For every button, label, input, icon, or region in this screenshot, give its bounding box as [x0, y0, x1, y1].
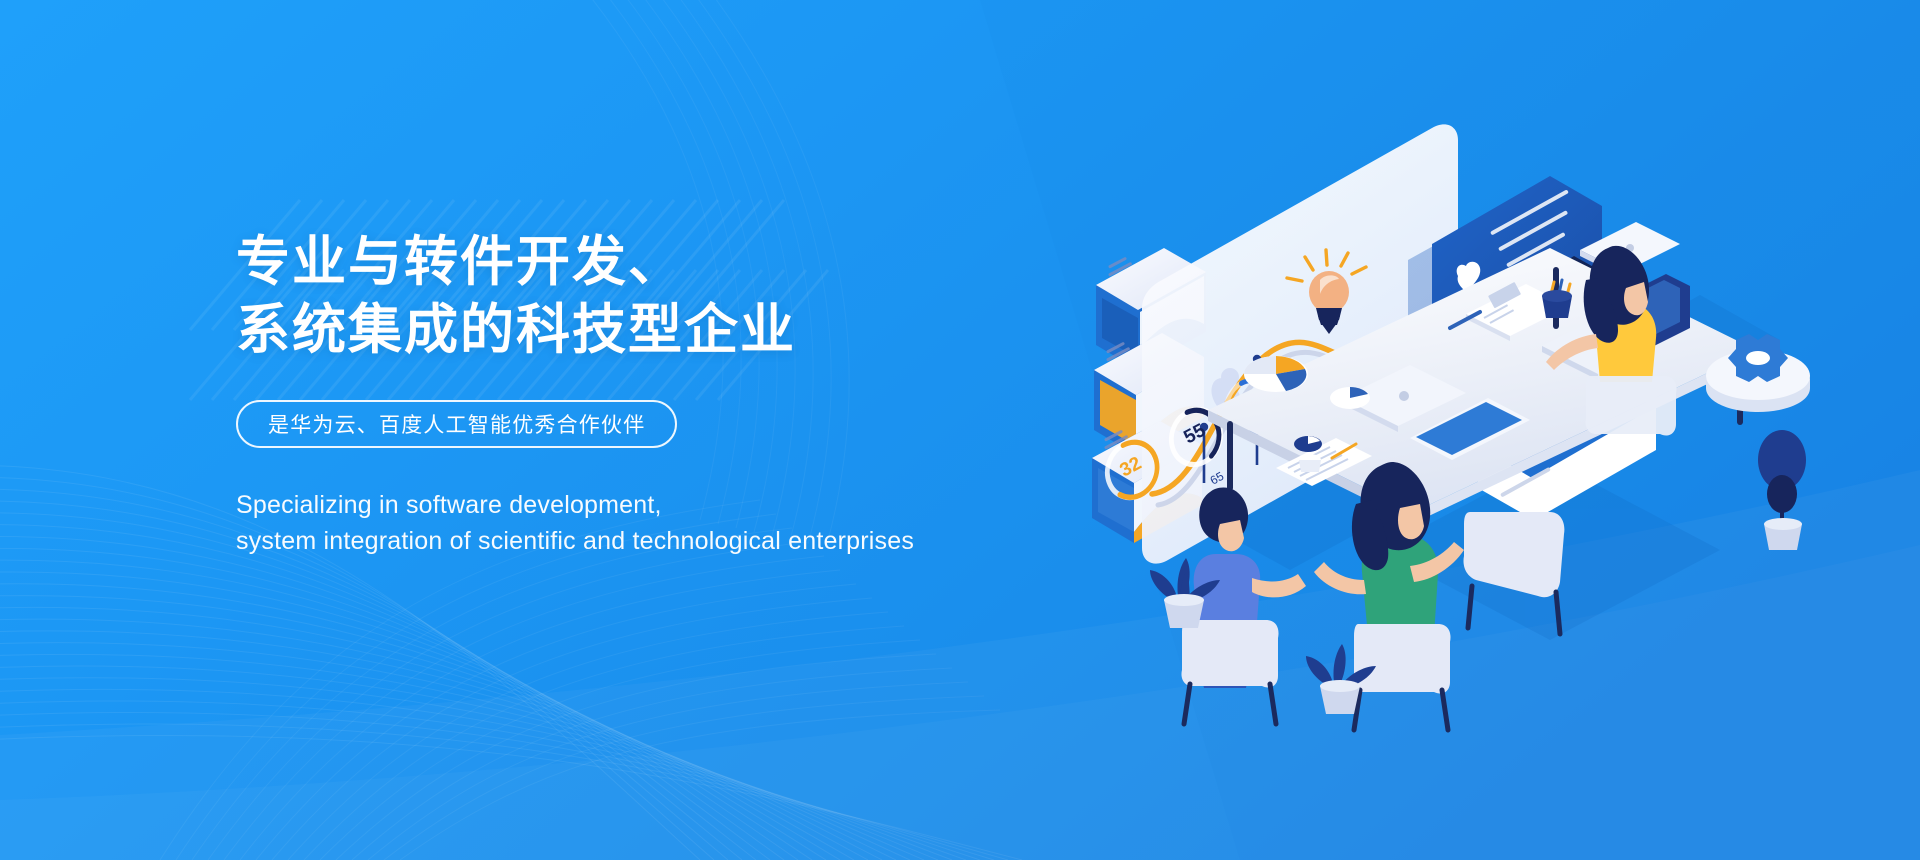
subtitle-line-1: Specializing in software development,: [236, 488, 1186, 524]
coffee-cup-small: [1299, 454, 1321, 472]
chair-right: [1585, 376, 1676, 436]
topiary-plant: [1758, 430, 1806, 550]
pie-chart-mini: [1294, 436, 1322, 452]
hero-copy: 专业与转件开发、 系统集成的科技型企业 是华为云、百度人工智能优秀合作伙伴 Sp…: [236, 228, 1186, 559]
hero-illustration: 65 123 97 81: [1080, 80, 1840, 760]
hero-banner: 专业与转件开发、 系统集成的科技型企业 是华为云、百度人工智能优秀合作伙伴 Sp…: [0, 0, 1920, 860]
hero-subtitle: Specializing in software development, sy…: [236, 488, 1186, 559]
pie-chart-large: [1244, 356, 1308, 392]
headline-line-2: 系统集成的科技型企业: [236, 296, 1186, 364]
chair-center: [1353, 624, 1450, 694]
partner-badge: 是华为云、百度人工智能优秀合作伙伴: [236, 400, 677, 448]
page-title: 专业与转件开发、 系统集成的科技型企业: [236, 228, 1186, 364]
chair-left: [1181, 620, 1278, 688]
pie-chart-small: [1330, 387, 1370, 409]
headline-line-1: 专业与转件开发、: [236, 228, 1186, 296]
subtitle-line-2: system integration of scientific and tec…: [236, 524, 1186, 560]
